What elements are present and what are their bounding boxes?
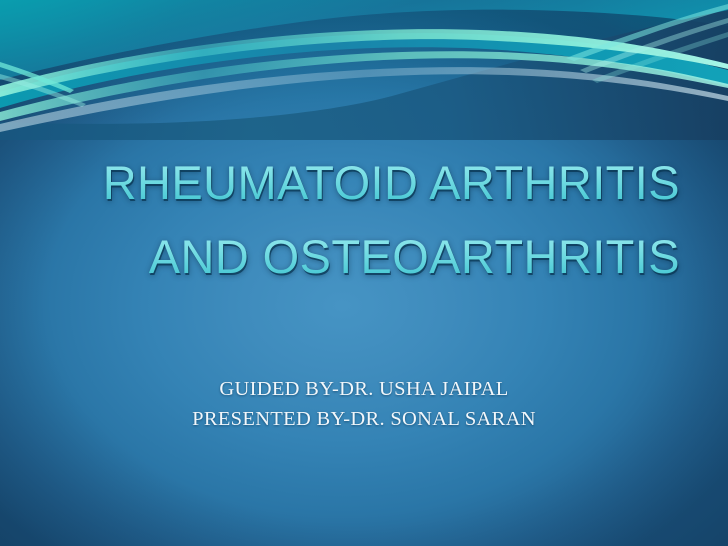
slide-title-line-1: RHEUMATOID ARTHRITIS bbox=[40, 146, 680, 220]
slide-title-line-2: AND OSTEOARTHRITIS bbox=[40, 220, 680, 294]
slide-subtitle-line-presented-by: PRESENTED BY-DR. SONAL SARAN bbox=[64, 404, 664, 434]
slide-subtitle: GUIDED BY-DR. USHA JAIPAL PRESENTED BY-D… bbox=[64, 374, 664, 434]
swoosh-ribbon-icon bbox=[0, 0, 728, 140]
slide-subtitle-line-guided-by: GUIDED BY-DR. USHA JAIPAL bbox=[64, 374, 664, 404]
slide-title: RHEUMATOID ARTHRITIS AND OSTEOARTHRITIS bbox=[40, 146, 680, 294]
title-slide: RHEUMATOID ARTHRITIS AND OSTEOARTHRITIS … bbox=[0, 0, 728, 546]
